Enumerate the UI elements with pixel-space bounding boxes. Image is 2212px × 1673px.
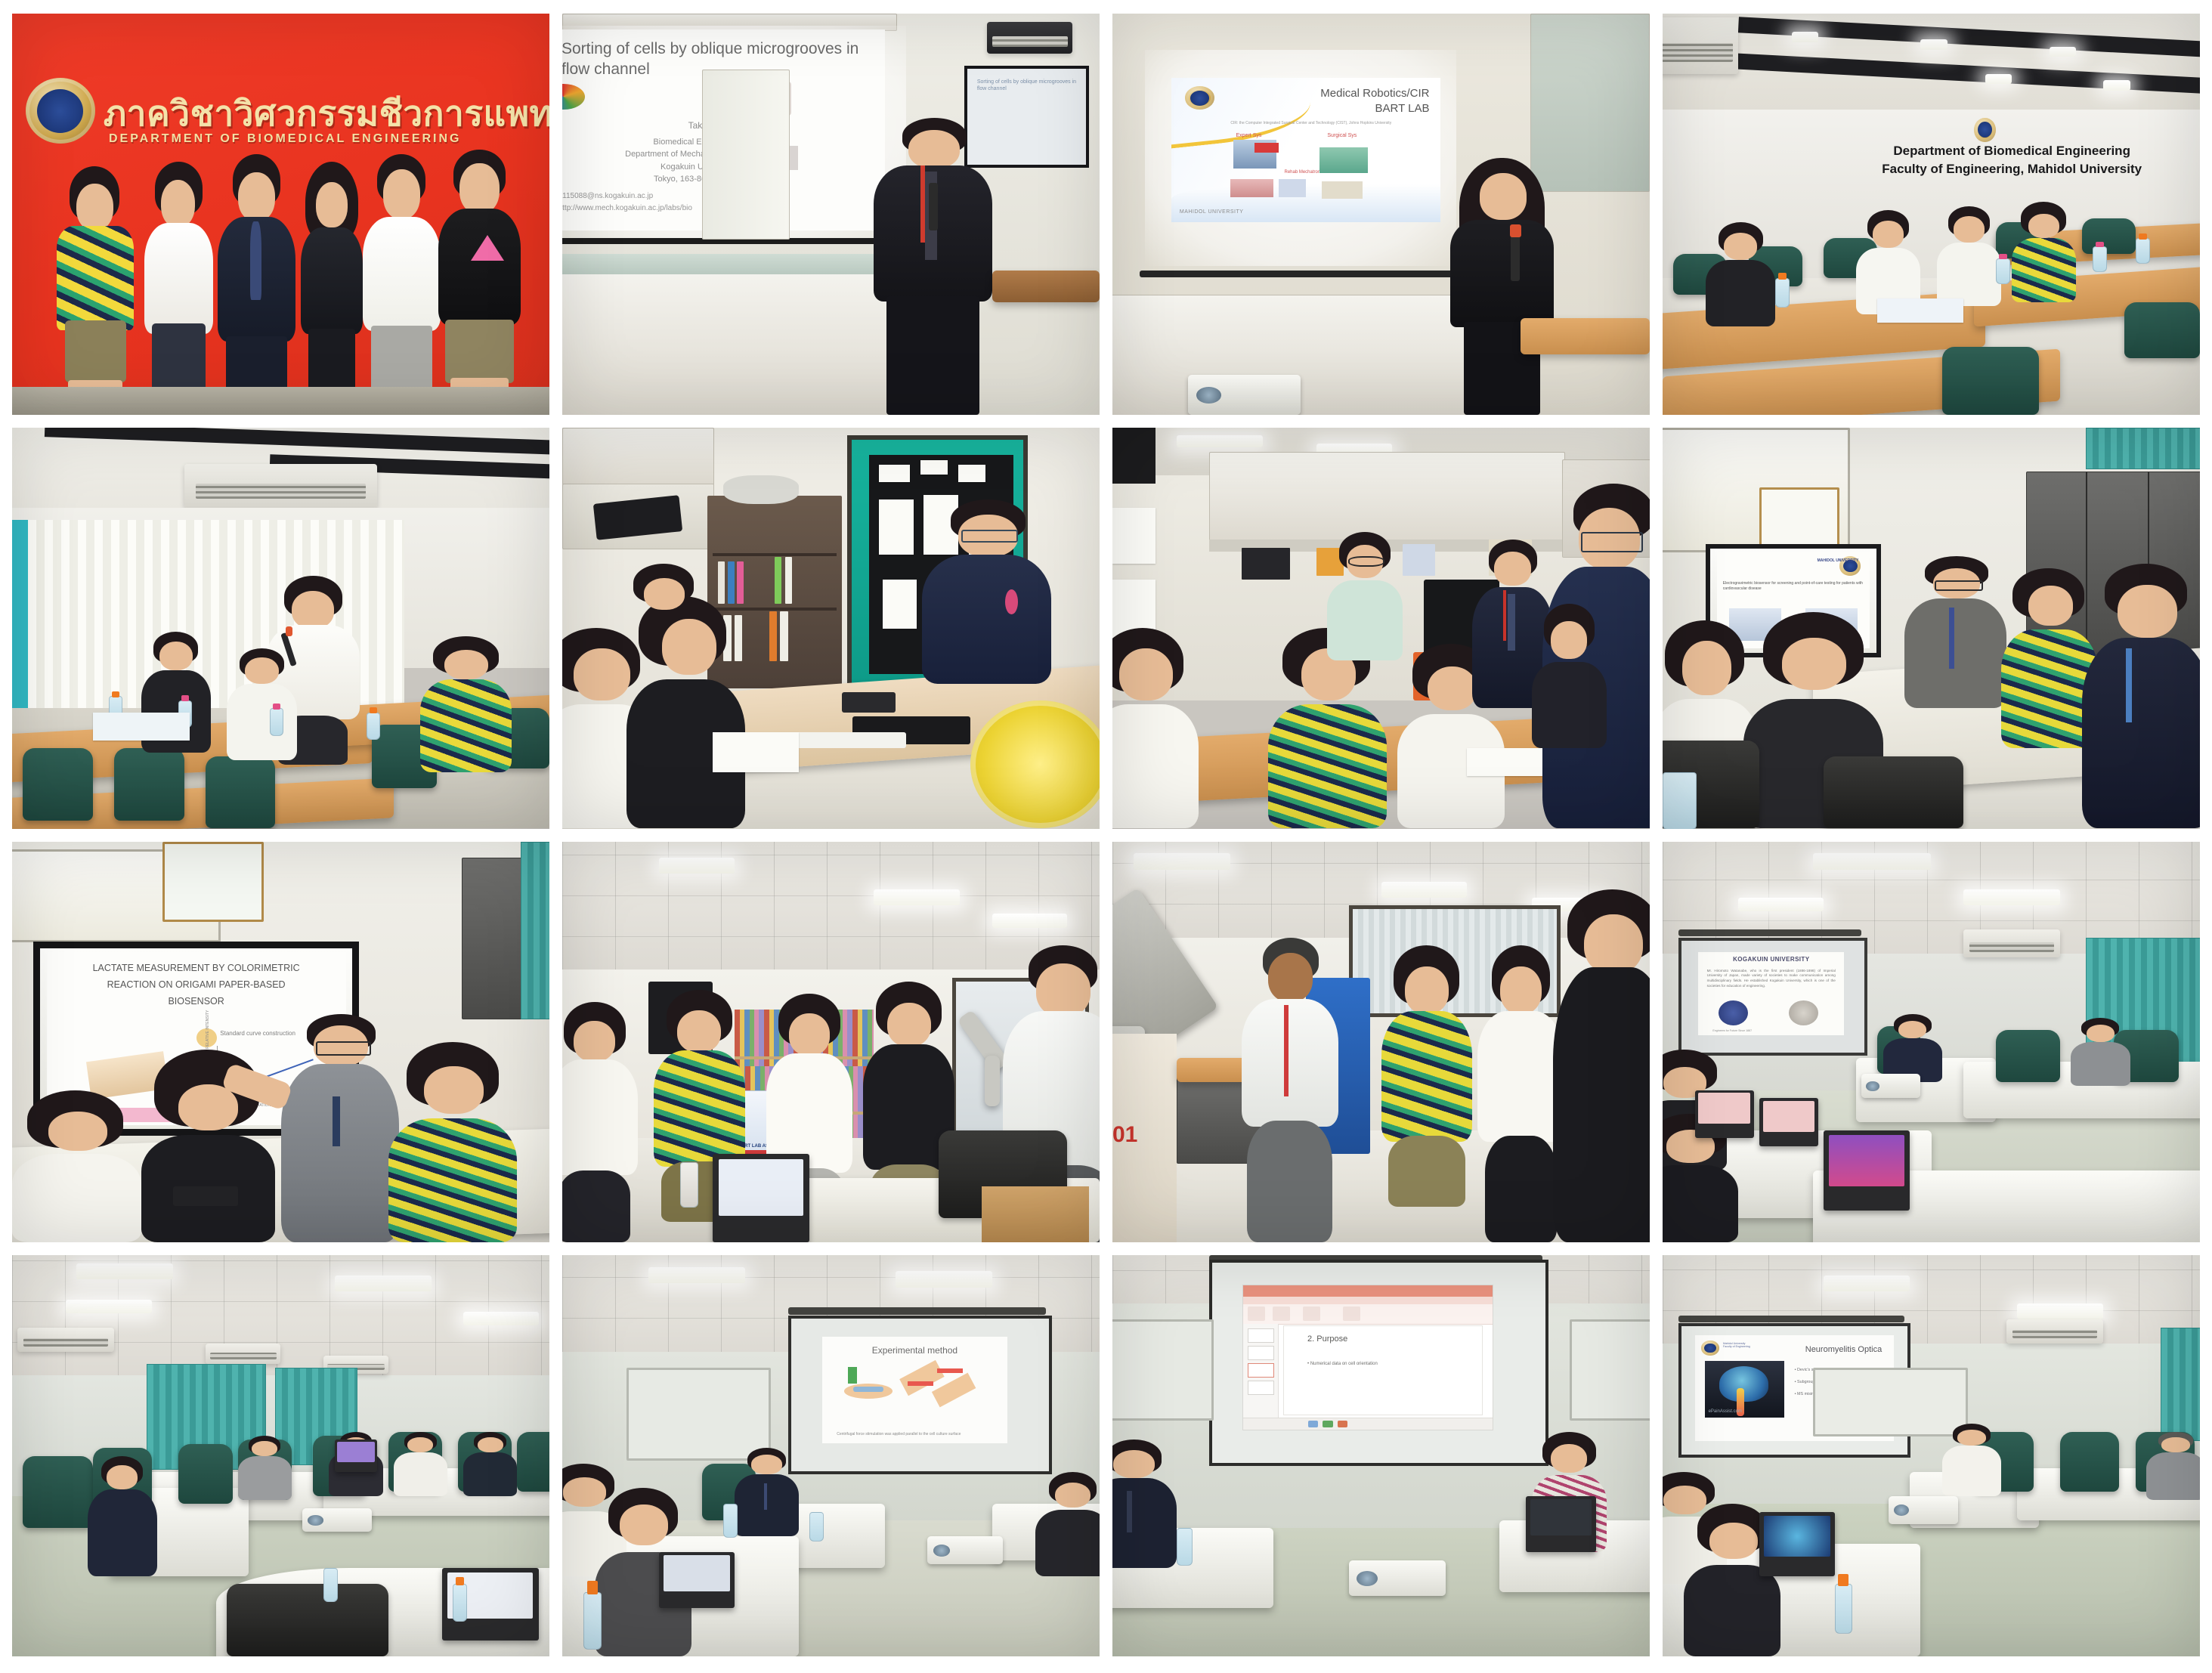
- glasses-icon: [316, 1041, 371, 1056]
- wide-person-1: [238, 1436, 292, 1500]
- seminar-question: [12, 428, 549, 829]
- front-listener-person-2: [12, 1090, 141, 1243]
- seminar-faculty-12: [2071, 1018, 2130, 1086]
- projection-screen-12: KOGAKUIN UNIVERSITY Mr. Hiromoto Watanab…: [1678, 938, 1867, 1056]
- faculty-person-16: [2146, 1432, 2200, 1500]
- projected-slide-3: Medical Robotics/CIR BART LAB CIR: the C…: [1171, 78, 1440, 222]
- display-slide-title: LACTATE MEASUREMENT BY COLORIMETRIC REAC…: [61, 960, 330, 1010]
- talk-presenter-15: [1112, 1440, 1177, 1568]
- laptop-12[interactable]: [1824, 1130, 1910, 1211]
- robot-tour-student-3: [1553, 889, 1650, 1242]
- seminar-room-wide: [12, 1255, 549, 1656]
- framed-poster: [162, 842, 264, 923]
- meeting-professor-person: [2082, 564, 2200, 828]
- glasses-icon: [1348, 556, 1384, 567]
- anatomy-figure: ePainAssist.com: [1705, 1361, 1784, 1418]
- photo-cell-13[interactable]: [12, 1255, 549, 1656]
- robot-arm-tour: 01: [1112, 842, 1650, 1243]
- glasses-icon: [1581, 532, 1643, 552]
- robot-tour-student-1: [1381, 945, 1473, 1242]
- presenter-person: [868, 118, 998, 415]
- lab-person-5: [1532, 604, 1607, 748]
- person-1: [55, 166, 136, 415]
- wide-person-3: [394, 1432, 447, 1496]
- wall-department-text: Department of Biomedical Engineering Fac…: [1877, 142, 2146, 179]
- photo-cell-9[interactable]: LACTATE MEASUREMENT BY COLORIMETRIC REAC…: [12, 842, 549, 1243]
- robot-label: 01: [1112, 1122, 1137, 1148]
- lecture-hall-students: Department of Biomedical Engineering Fac…: [1663, 14, 2200, 415]
- meeting-host-person: [1904, 556, 2006, 709]
- photo-cell-14[interactable]: Experimental method Centrifugal force st…: [562, 1255, 1100, 1656]
- seated-student-3: [1937, 206, 2001, 307]
- photo-cell-12[interactable]: KOGAKUIN UNIVERSITY Mr. Hiromoto Watanab…: [1663, 842, 2200, 1243]
- photo-cell-15[interactable]: 2. Purpose • Numerical data on cell orie…: [1112, 1255, 1650, 1656]
- photo-cell-7[interactable]: [1112, 428, 1650, 829]
- photo-cell-10[interactable]: BART LAB ASSISTIVE: [562, 842, 1100, 1243]
- bart-lab-presentation: Medical Robotics/CIR BART LAB CIR: the C…: [1112, 14, 1650, 415]
- projection-screen-15: 2. Purpose • Numerical data on cell orie…: [1209, 1260, 1548, 1466]
- photo-cell-5[interactable]: [12, 428, 549, 829]
- note-taker-3: [621, 564, 707, 652]
- laptop-15[interactable]: [1526, 1496, 1595, 1552]
- photo-cell-6[interactable]: [562, 428, 1100, 829]
- lab-person-1: [1112, 628, 1199, 828]
- powerpoint-window: 2. Purpose • Numerical data on cell orie…: [1242, 1285, 1494, 1430]
- photo-cell-16[interactable]: Mahidol UniversityFaculty of Engineering…: [1663, 1255, 2200, 1656]
- experimental-method-talk: Experimental method Centrifugal force st…: [562, 1255, 1100, 1656]
- red-wall-group-photo: ภาควิชาวิศวกรรมชีวการแพทย์ DEPARTMENT OF…: [12, 14, 549, 415]
- photo-collage: ภาควิชาวิศวกรรมชีวการแพทย์ DEPARTMENT OF…: [0, 0, 2212, 1673]
- slide-title-3: Medical Robotics/CIR BART LAB: [1320, 86, 1429, 116]
- projection-screen-14: Experimental method Centrifugal force st…: [788, 1316, 1052, 1474]
- photo-cell-3[interactable]: Medical Robotics/CIR BART LAB CIR: the C…: [1112, 14, 1650, 415]
- photo-cell-11[interactable]: 01: [1112, 842, 1650, 1243]
- laptop-16[interactable]: [1759, 1512, 1835, 1576]
- person-5: [361, 154, 442, 415]
- person-4: [297, 162, 367, 414]
- monitor-meeting: MAHIDOL UNIVERSITY Electrogravimetric bi…: [1663, 428, 2200, 829]
- phone: [842, 692, 896, 713]
- person-6: [437, 150, 523, 414]
- photo-cell-2[interactable]: Sorting of cells by oblique microgrooves…: [562, 14, 1100, 415]
- professor-presentation: Sorting of cells by oblique microgrooves…: [562, 14, 1100, 415]
- seated-listener-3: [420, 636, 512, 772]
- pointing-presenter-person: [281, 1014, 399, 1243]
- person-2: [141, 162, 217, 414]
- cardboard-box: [982, 1186, 1089, 1242]
- talk-audience-14c: [1035, 1472, 1100, 1576]
- photo-cell-4[interactable]: Department of Biomedical Engineering Fac…: [1663, 14, 2200, 415]
- powerpoint-purpose-slide: 2. Purpose • Numerical data on cell orie…: [1112, 1255, 1650, 1656]
- lab-staff-person: [922, 499, 1051, 748]
- talk-presenter-14: [735, 1448, 799, 1536]
- tour-student-1: [562, 1002, 638, 1242]
- glasses-icon: [961, 530, 1019, 543]
- neuromyelitis-talk: Mahidol UniversityFaculty of Engineering…: [1663, 1255, 2200, 1656]
- robot-tour-student-2: [1477, 945, 1564, 1242]
- laptop-14[interactable]: [659, 1552, 735, 1608]
- lab-person-4: [1327, 532, 1403, 660]
- wide-person-chair: [88, 1456, 157, 1576]
- seated-student-4: [2012, 202, 2076, 302]
- speaker-person-16: [1942, 1424, 2001, 1496]
- laptop[interactable]: [713, 1154, 809, 1242]
- glasses-icon: [1935, 580, 1982, 591]
- robot-tour-host: [1242, 938, 1338, 1242]
- lab-tour-notes: BART LAB ASSISTIVE: [562, 842, 1100, 1243]
- kogakuin-seminar: KOGAKUIN UNIVERSITY Mr. Hiromoto Watanab…: [1663, 842, 2200, 1243]
- speaker-person: [1446, 158, 1558, 415]
- university-seal-icon: [26, 78, 95, 144]
- seated-listener-2: [227, 648, 296, 761]
- right-listener-person: [388, 1042, 518, 1242]
- photo-cell-1[interactable]: ภาควิชาวิศวกรรมชีวการแพทย์ DEPARTMENT OF…: [12, 14, 549, 415]
- wide-person-4: [463, 1432, 517, 1496]
- person-3: [216, 154, 297, 415]
- power-strip: [788, 732, 906, 748]
- display-pointing: LACTATE MEASUREMENT BY COLORIMETRIC REAC…: [12, 842, 549, 1243]
- sign-english-title: DEPARTMENT OF BIOMEDICAL ENGINEERING: [109, 132, 462, 146]
- seminar-presenter-12: [1883, 1014, 1942, 1082]
- lab-office-desk: [562, 428, 1100, 829]
- lab-workroom-discussion: [1112, 428, 1650, 829]
- photo-cell-8[interactable]: MAHIDOL UNIVERSITY Electrogravimetric bi…: [1663, 428, 2200, 829]
- seated-student-1: [1706, 222, 1775, 326]
- slide-bullet-15: • Numerical data on cell orientation: [1307, 1362, 1378, 1366]
